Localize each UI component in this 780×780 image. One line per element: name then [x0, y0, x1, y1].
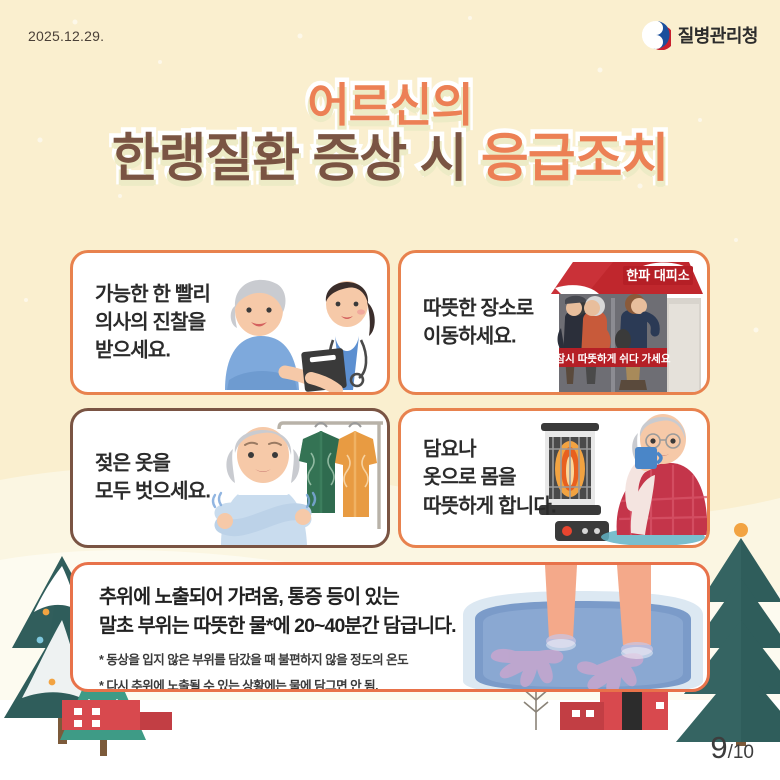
panel-text-block: 추위에 노출되어 가려움, 통증 등이 있는 말초 부위는 따뜻한 물*에 20… — [99, 583, 456, 692]
feet-and-hands-soaking-in-warm-water-basin — [457, 565, 707, 691]
shelter-bottom-sign-text: 잠시 따뜻하게 쉬다 가세요 — [555, 352, 670, 365]
kdca-logo: 질병관리청 — [641, 20, 758, 50]
person-wrapped-in-blanket — [601, 414, 707, 545]
advice-card-2-text: 따뜻한 장소로 이동하세요. — [423, 294, 533, 351]
title-segment-orange-2: 응급조치 — [481, 130, 668, 188]
taegeuk-icon — [641, 20, 671, 50]
panel-note-1: * 동상을 입지 않은 부위를 담갔을 때 불편하지 않을 정도의 온도 — [99, 649, 456, 668]
advice-card-move-to-warm-place: 따뜻한 장소로 이동하세요. 한파 대피소 — [398, 250, 710, 395]
warm-water-soak-panel: 추위에 노출되어 가려움, 통증 등이 있는 말초 부위는 따뜻한 물*에 20… — [70, 562, 710, 692]
title-line-1: 어르신의 — [0, 82, 780, 129]
title-segment-orange-1: 어르신의 — [307, 79, 472, 131]
title-segment-brown: 한랭질환 증상 시 — [112, 130, 467, 188]
page-total: /10 — [728, 742, 754, 764]
publication-date: 2025.12.29. — [28, 28, 104, 44]
title-line-2: 한랭질환 증상 시 응급조치 — [0, 133, 780, 186]
logo-text: 질병관리청 — [678, 22, 758, 48]
shivering-elderly-woman — [213, 427, 315, 545]
cold-wave-shelter-illustration: 한파 대피소 잠시 따뜻하게 — [547, 252, 707, 392]
orange-cardigan — [335, 423, 377, 517]
shivering-elderly-with-clothes-rack-illustration — [207, 409, 387, 545]
panel-note-2: * 다시 추위에 노출될 수 있는 상황에는 물에 담그면 안 됨. — [99, 675, 456, 693]
advice-card-1-text: 가능한 한 빨리 의사의 진찰을 받으세요. — [95, 280, 210, 365]
page-indicator: 9 /10 — [710, 730, 754, 766]
advice-card-remove-wet-clothes: 젖은 옷을 모두 벗으세요. — [70, 408, 390, 548]
advice-card-blanket-warmth: 담요나 옷으로 몸을 따뜻하게 합니다. — [398, 408, 710, 548]
page-current: 9 — [710, 730, 727, 766]
shelter-top-sign-text: 한파 대피소 — [626, 268, 689, 283]
panel-main-text: 추위에 노출되어 가려움, 통증 등이 있는 말초 부위는 따뜻한 물*에 20… — [99, 583, 456, 642]
elderly-patient-and-doctor-illustration — [207, 252, 387, 392]
advice-card-see-doctor: 가능한 한 빨리 의사의 진찰을 받으세요. — [70, 250, 390, 395]
page-title: 어르신의 한랭질환 증상 시 응급조치 — [0, 82, 780, 186]
advice-card-4-text: 담요나 옷으로 몸을 따뜻하게 합니다. — [423, 435, 556, 520]
green-cardigan — [299, 423, 343, 513]
advice-card-3-text: 젖은 옷을 모두 벗으세요. — [95, 450, 210, 507]
